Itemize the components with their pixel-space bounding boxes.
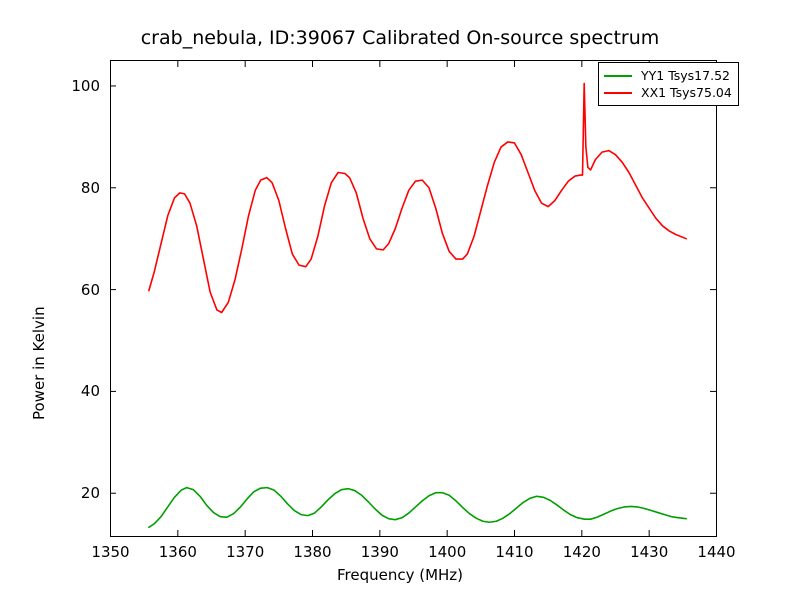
legend-label: YY1 Tsys17.52 (641, 68, 730, 83)
y-axis-label: Power in Kelvin (30, 306, 48, 420)
legend-item[interactable]: XX1 Tsys75.04 (604, 84, 732, 101)
x-tick-label: 1390 (361, 543, 399, 561)
legend-label: XX1 Tsys75.04 (641, 85, 732, 100)
legend-item[interactable]: YY1 Tsys17.52 (604, 67, 732, 84)
legend-color-swatch (604, 75, 632, 77)
y-tick-label: 60 (55, 281, 100, 299)
x-tick-label: 1350 (91, 543, 129, 561)
legend-box: YY1 Tsys17.52XX1 Tsys75.04 (598, 62, 739, 106)
plot-frame (111, 61, 717, 537)
x-tick-label: 1430 (630, 543, 668, 561)
x-tick-label: 1370 (226, 543, 264, 561)
y-tick-label: 20 (55, 484, 100, 502)
y-tick-label: 80 (55, 179, 100, 197)
y-tick-label: 100 (55, 77, 100, 95)
y-tick-label: 40 (55, 382, 100, 400)
legend-color-swatch (604, 92, 632, 94)
x-tick-label: 1440 (697, 543, 735, 561)
plot-area (110, 60, 717, 537)
x-tick-label: 1400 (428, 543, 466, 561)
x-tick-label: 1410 (495, 543, 533, 561)
spectrum-figure: crab_nebula, ID:39067 Calibrated On-sour… (0, 0, 800, 600)
chart-title: crab_nebula, ID:39067 Calibrated On-sour… (0, 27, 800, 49)
x-tick-label: 1420 (563, 543, 601, 561)
plot-svg (110, 60, 717, 537)
x-tick-label: 1380 (293, 543, 331, 561)
x-axis-label: Frequency (MHz) (0, 566, 800, 584)
x-tick-label: 1360 (159, 543, 197, 561)
